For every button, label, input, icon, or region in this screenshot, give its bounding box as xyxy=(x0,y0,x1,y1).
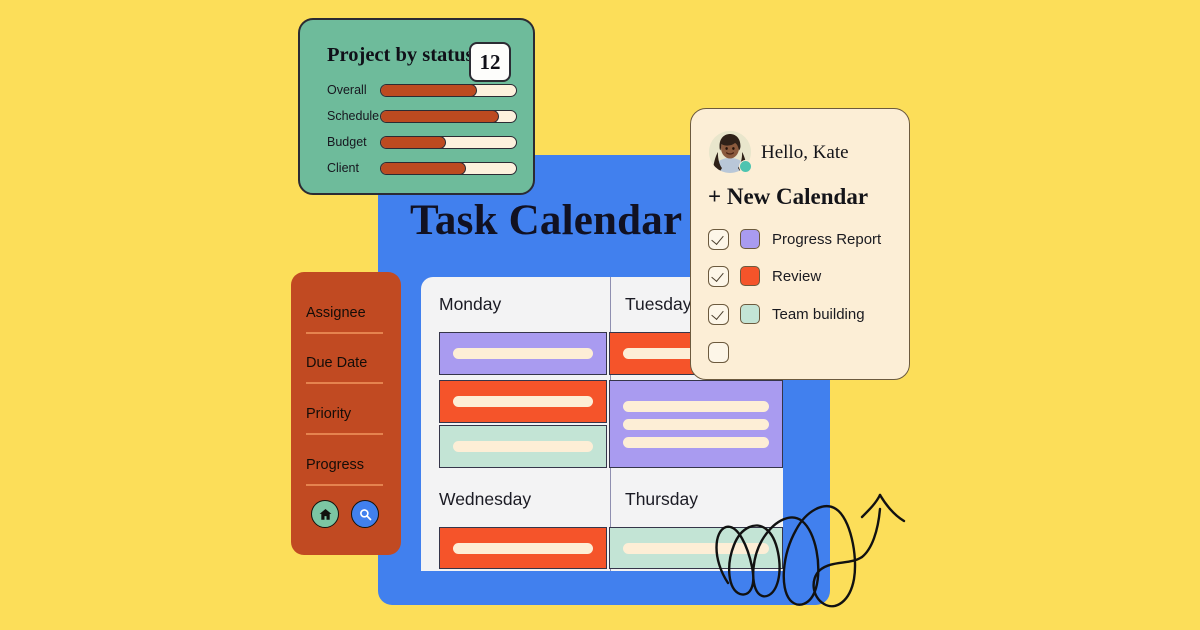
event-text-placeholder xyxy=(623,401,769,412)
calendar-checkbox[interactable] xyxy=(708,229,729,250)
status-row-label: Budget xyxy=(327,135,380,149)
sidebar-item-due-date[interactable]: Due Date xyxy=(306,355,386,371)
search-icon xyxy=(358,507,373,522)
calendar-day-thursday: Thursday xyxy=(625,489,698,510)
event-text-placeholder xyxy=(453,441,593,452)
sidebar-item-progress[interactable]: Progress xyxy=(306,457,386,473)
sidebar-divider xyxy=(306,433,383,435)
progress-track xyxy=(380,162,517,175)
page-title: Task Calendar xyxy=(410,196,682,245)
calendar-list-item[interactable]: Progress Report xyxy=(708,228,881,250)
status-row-label: Overall xyxy=(327,83,380,97)
status-badge: 12 xyxy=(469,42,511,82)
progress-fill xyxy=(380,110,499,123)
calendar-list-item-label: Review xyxy=(772,268,821,285)
calendar-day-tuesday: Tuesday xyxy=(625,294,691,315)
greeting-text: Hello, Kate xyxy=(761,142,849,164)
sidebar-divider xyxy=(306,484,383,486)
calendar-color-swatch[interactable] xyxy=(740,229,760,249)
calendar-list-item-label: Progress Report xyxy=(772,231,881,248)
event-text-placeholder xyxy=(623,543,769,554)
event-text-placeholder xyxy=(623,419,769,430)
status-row-label: Schedule xyxy=(327,109,380,123)
event-text-placeholder xyxy=(453,348,593,359)
screenshot-root: Task Calendar Monday Tuesday Wednesday T… xyxy=(0,0,1200,630)
status-card-title: Project by status xyxy=(327,44,474,67)
calendar-event[interactable] xyxy=(609,380,783,468)
progress-fill xyxy=(380,84,477,97)
progress-track xyxy=(380,84,517,97)
status-row-label: Client xyxy=(327,161,380,175)
calendar-checkbox[interactable] xyxy=(708,266,729,287)
calendar-list-item[interactable]: Review xyxy=(708,265,821,287)
calendar-event[interactable] xyxy=(439,332,607,375)
calendar-list-panel: Hello, Kate + New Calendar Progress Repo… xyxy=(690,108,910,380)
event-text-placeholder xyxy=(623,437,769,448)
home-button[interactable] xyxy=(311,500,339,528)
calendar-event[interactable] xyxy=(609,527,783,569)
progress-fill xyxy=(380,136,446,149)
sidebar-divider xyxy=(306,332,383,334)
calendar-color-swatch[interactable] xyxy=(740,304,760,324)
sidebar-divider xyxy=(306,382,383,384)
event-text-placeholder xyxy=(453,543,593,554)
progress-track xyxy=(380,136,517,149)
home-icon xyxy=(318,507,333,522)
filter-sidebar: Assignee Due Date Priority Progress xyxy=(291,272,401,555)
calendar-event[interactable] xyxy=(439,527,607,569)
new-calendar-button[interactable]: + New Calendar xyxy=(708,184,868,210)
project-status-card: Project by status 12 Overall Schedule Bu… xyxy=(298,18,535,195)
progress-fill xyxy=(380,162,466,175)
search-button[interactable] xyxy=(351,500,379,528)
progress-track xyxy=(380,110,517,123)
sidebar-item-assignee[interactable]: Assignee xyxy=(306,305,386,321)
calendar-day-monday: Monday xyxy=(439,294,501,315)
status-row-client: Client xyxy=(327,161,517,175)
status-row-overall: Overall xyxy=(327,83,517,97)
event-text-placeholder xyxy=(453,396,593,407)
calendar-event[interactable] xyxy=(439,425,607,468)
calendar-color-swatch[interactable] xyxy=(740,266,760,286)
status-row-budget: Budget xyxy=(327,135,517,149)
online-status-icon xyxy=(739,160,752,173)
calendar-day-wednesday: Wednesday xyxy=(439,489,531,510)
calendar-list-item-empty[interactable] xyxy=(708,341,729,363)
sidebar-item-priority[interactable]: Priority xyxy=(306,406,386,422)
calendar-checkbox[interactable] xyxy=(708,304,729,325)
calendar-list-item-label: Team building xyxy=(772,306,865,323)
calendar-list-item[interactable]: Team building xyxy=(708,303,865,325)
avatar-wrapper[interactable] xyxy=(709,131,751,173)
status-row-schedule: Schedule xyxy=(327,109,517,123)
calendar-checkbox[interactable] xyxy=(708,342,729,363)
calendar-event[interactable] xyxy=(439,380,607,423)
